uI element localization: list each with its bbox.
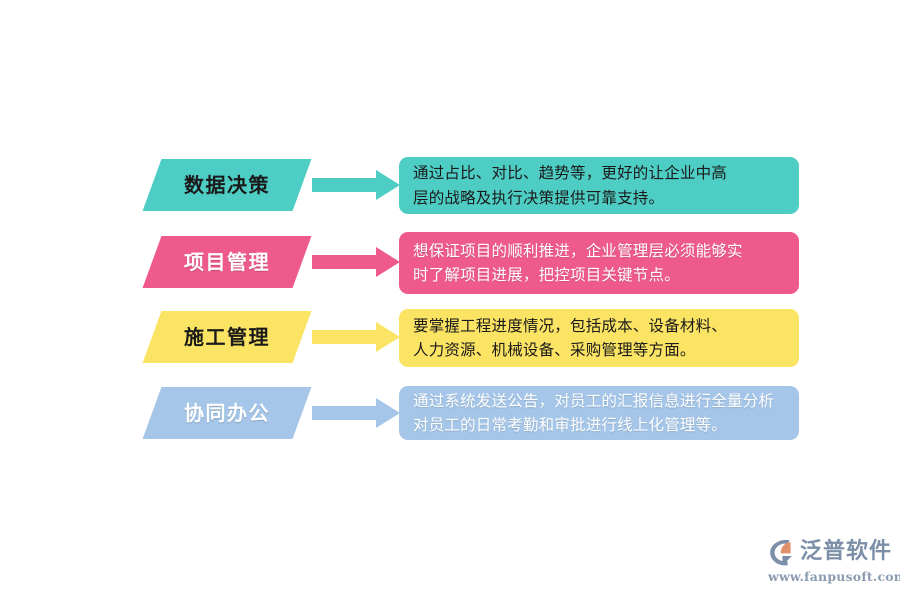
right-arrow-icon	[312, 247, 400, 277]
description-card-3[interactable]: 通过系统发送公告，对员工的汇报信息进行全量分析 对员工的日常考勤和审批进行线上化…	[399, 386, 799, 440]
category-tag-3[interactable]: 协同办公	[143, 387, 312, 439]
category-tag-label: 施工管理	[184, 327, 270, 347]
description-line: 层的战略及执行决策提供可靠支持。	[413, 186, 787, 210]
diagram-row: 项目管理 想保证项目的顺利推进，企业管理层必须能够实 时了解项目进展，把控项目关…	[0, 234, 900, 296]
description-line: 通过占比、对比、趋势等，更好的让企业中高	[413, 161, 787, 185]
flow-arrow-0	[312, 170, 400, 200]
description-line: 要掌握工程进度情况，包括成本、设备材料、	[413, 314, 787, 338]
flow-arrow-1	[312, 247, 400, 277]
category-tag-1[interactable]: 项目管理	[143, 236, 312, 288]
flow-arrow-2	[312, 322, 400, 352]
brand-logo-row: 泛普软件	[768, 537, 890, 567]
description-line: 通过系统发送公告，对员工的汇报信息进行全量分析	[413, 389, 787, 413]
description-card-2[interactable]: 要掌握工程进度情况，包括成本、设备材料、 人力资源、机械设备、采购管理等方面。	[399, 309, 799, 367]
diagram-row: 协同办公 通过系统发送公告，对员工的汇报信息进行全量分析 对员工的日常考勤和审批…	[0, 385, 900, 447]
description-line: 时了解项目进展，把控项目关键节点。	[413, 263, 787, 287]
right-arrow-icon	[312, 170, 400, 200]
description-card-1[interactable]: 想保证项目的顺利推进，企业管理层必须能够实 时了解项目进展，把控项目关键节点。	[399, 232, 799, 294]
right-arrow-icon	[312, 398, 400, 428]
description-line: 对员工的日常考勤和审批进行线上化管理等。	[413, 413, 787, 437]
fanpu-c-mark-icon	[768, 537, 798, 567]
diagram-row: 数据决策 通过占比、对比、趋势等，更好的让企业中高 层的战略及执行决策提供可靠支…	[0, 157, 900, 219]
right-arrow-icon	[312, 322, 400, 352]
brand-name: 泛普软件	[800, 541, 892, 563]
description-card-0[interactable]: 通过占比、对比、趋势等，更好的让企业中高 层的战略及执行决策提供可靠支持。	[399, 157, 799, 214]
category-tag-label: 协同办公	[184, 403, 270, 423]
flow-arrow-3	[312, 398, 400, 428]
brand-url: www.fanpusoft.com	[768, 569, 890, 584]
description-line: 人力资源、机械设备、采购管理等方面。	[413, 338, 787, 362]
brand-logo[interactable]: 泛普软件 www.fanpusoft.com	[768, 537, 890, 585]
diagram-row: 施工管理 要掌握工程进度情况，包括成本、设备材料、 人力资源、机械设备、采购管理…	[0, 309, 900, 371]
category-tag-0[interactable]: 数据决策	[143, 159, 312, 211]
category-tag-label: 数据决策	[184, 175, 270, 195]
category-tag-label: 项目管理	[184, 252, 270, 272]
diagram-canvas: 数据决策 通过占比、对比、趋势等，更好的让企业中高 层的战略及执行决策提供可靠支…	[0, 0, 900, 600]
description-line: 想保证项目的顺利推进，企业管理层必须能够实	[413, 239, 787, 263]
category-tag-2[interactable]: 施工管理	[143, 311, 312, 363]
